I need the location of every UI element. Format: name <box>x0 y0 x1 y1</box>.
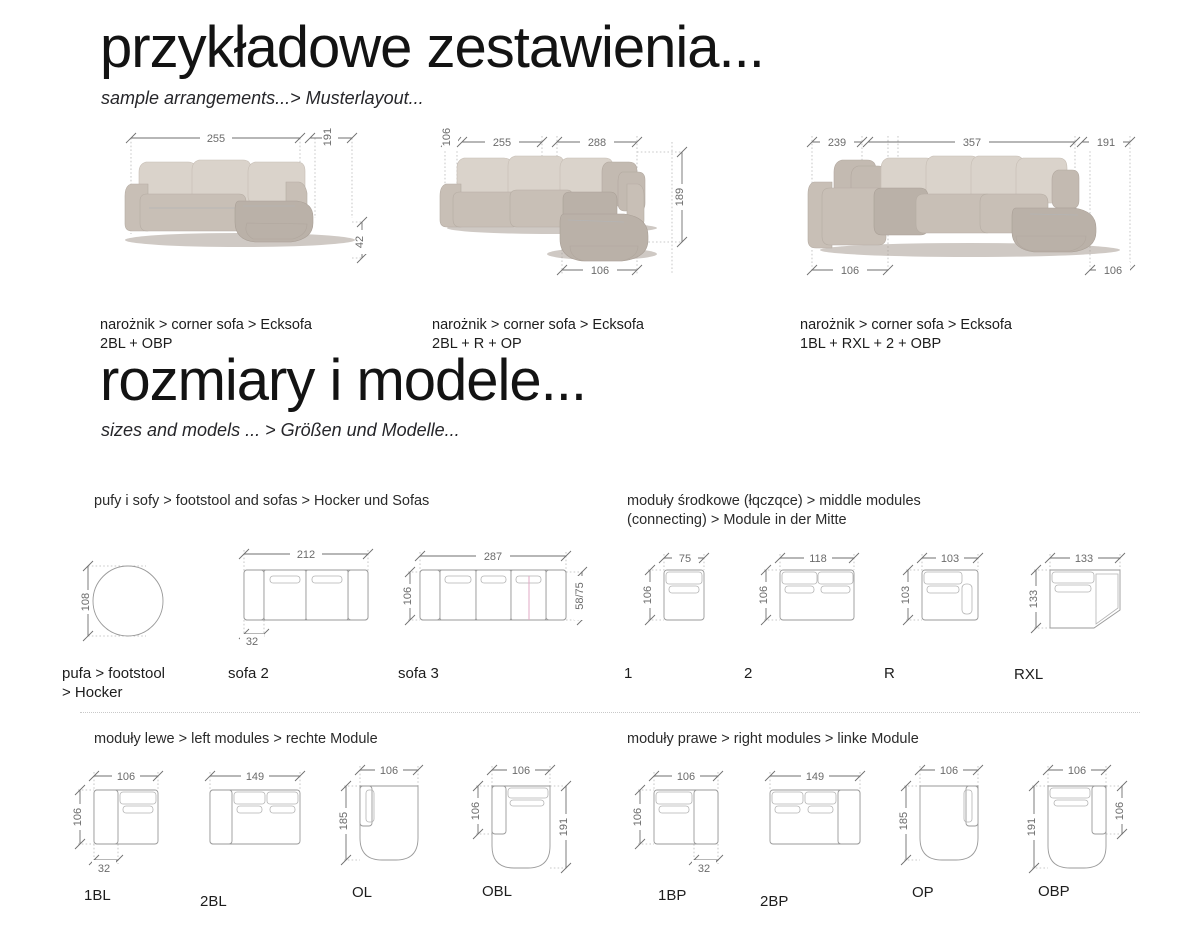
dim-obp-width: 106 <box>1068 765 1086 777</box>
dim-arr3-bottom-left: 106 <box>841 265 859 277</box>
dim-module2-width: 118 <box>809 553 827 565</box>
model-name-1bl: 1BL <box>84 886 192 905</box>
dim-obl-width: 106 <box>512 765 530 777</box>
sofa-illustration-1bl-rxl-2-obp <box>808 156 1120 257</box>
dim-arr2-right: 288 <box>588 137 606 149</box>
dim-modulerxl-depth: 133 <box>1028 590 1040 608</box>
dim-sofa2-arm: 32 <box>246 636 258 648</box>
group-label-left-modules-line1: moduły lewe > left modules > rechte Modu… <box>94 730 378 749</box>
dim-module2-depth: 106 <box>758 586 770 604</box>
dim-obp-arm-height: 106 <box>1114 802 1126 820</box>
dim-arr3-width: 357 <box>963 137 981 149</box>
model-item-obl: 106 106 191 OBL <box>458 750 588 901</box>
dim-sofa3-width: 287 <box>484 551 502 563</box>
dim-arr1-depth: 191 <box>322 128 334 146</box>
model-drawing-sofa2: 212 32 <box>228 540 388 648</box>
dim-1bp-depth: 106 <box>632 808 644 826</box>
model-drawing-ol: 106 185 <box>322 750 452 875</box>
page-title-arrangements: przykładowe zestawienia... <box>100 14 764 81</box>
group-label-left-modules: moduły lewe > left modules > rechte Modu… <box>94 730 378 749</box>
group-label-footstool-sofas: pufy i sofy > footstool and sofas > Hock… <box>94 492 429 511</box>
section-divider <box>80 712 1140 713</box>
dim-modulerxl-width: 133 <box>1075 553 1093 565</box>
group-label-right-modules-line1: moduły prawe > right modules > linke Mod… <box>627 730 919 749</box>
model-item-1: 75 106 1 <box>624 540 734 683</box>
dim-arr2-height: 189 <box>674 188 686 206</box>
model-item-sofa3: 287 106 58/75 sofa 3 <box>398 540 598 683</box>
model-drawing-1bp: 106 106 32 <box>622 760 752 878</box>
dim-1bl-depth: 106 <box>72 808 84 826</box>
arrangement-caption-2-line1: narożnik > corner sofa > Ecksofa <box>432 316 732 335</box>
dim-moduler-width: 103 <box>941 553 959 565</box>
dim-obl-arm-height: 106 <box>470 802 482 820</box>
dim-arr3-left: 239 <box>828 137 846 149</box>
model-drawing-pufa: 108 <box>62 548 197 648</box>
model-drawing-2bl: 149 <box>190 760 320 870</box>
dim-op-height: 185 <box>898 812 910 830</box>
dim-pufa-height: 108 <box>80 593 92 611</box>
model-drawing-module-rxl: 133 133 <box>1014 540 1144 645</box>
dim-module1-depth: 106 <box>642 586 654 604</box>
model-item-op: 106 185 OP <box>882 750 1012 902</box>
dim-arr3-bottom-right: 106 <box>1104 265 1122 277</box>
model-name-sofa2: sofa 2 <box>228 664 388 683</box>
model-item-1bl: 106 106 32 1BL <box>62 760 192 905</box>
dim-module1-width: 75 <box>679 553 691 565</box>
arrangement-drawing-3: 239 357 191 106 106 <box>800 122 1145 282</box>
dim-sofa3-depth: 106 <box>402 587 414 605</box>
arrangement-caption-3-line1: narożnik > corner sofa > Ecksofa <box>800 316 1145 335</box>
model-item-ol: 106 185 OL <box>322 750 452 902</box>
model-name-pufa-line2: > Hocker <box>62 683 197 702</box>
group-label-footstool-sofas-line1: pufy i sofy > footstool and sofas > Hock… <box>94 492 429 511</box>
model-item-r: 103 103 R <box>884 540 1004 683</box>
dim-moduler-depth: 103 <box>900 586 912 604</box>
dim-obp-total-height: 191 <box>1026 818 1038 836</box>
model-drawing-op: 106 185 <box>882 750 1012 875</box>
model-name-2bp: 2BP <box>760 892 880 911</box>
dim-arr2-width: 255 <box>493 137 511 149</box>
model-name-module-1: 1 <box>624 664 734 683</box>
dim-sofa2-width: 212 <box>297 549 315 561</box>
dim-1bl-width: 106 <box>117 771 135 783</box>
model-drawing-2bp: 149 <box>750 760 880 870</box>
model-name-obl: OBL <box>482 882 588 901</box>
model-name-module-rxl: RXL <box>1014 665 1144 684</box>
dim-arr3-right: 191 <box>1097 137 1115 149</box>
dim-2bl-width: 149 <box>246 771 264 783</box>
model-name-pufa-line1: pufa > footstool <box>62 664 197 683</box>
dim-arr1-width: 255 <box>207 133 225 145</box>
model-item-1bp: 106 106 32 1BP <box>622 760 752 905</box>
model-name-obp: OBP <box>1038 882 1144 901</box>
dim-ol-width: 106 <box>380 765 398 777</box>
arrangement-drawing-2: 106 255 288 189 106 <box>432 122 732 282</box>
model-drawing-obp: 106 106 191 <box>1014 750 1144 878</box>
arrangement-drawing-1: 255 191 42 <box>100 122 400 282</box>
arrangement-card-2: 106 255 288 189 106 <box>432 122 732 354</box>
arrangement-card-3: 239 357 191 106 106 <box>800 122 1145 354</box>
model-item-2bp: 149 2BP <box>750 760 880 911</box>
sofa-illustration-2bl-r-op <box>440 156 657 261</box>
model-name-module-r: R <box>884 664 1004 683</box>
model-drawing-module-r: 103 103 <box>884 540 1004 640</box>
dim-arr2-bottom: 106 <box>591 265 609 277</box>
group-label-right-modules: moduły prawe > right modules > linke Mod… <box>627 730 919 749</box>
dim-2bp-width: 149 <box>806 771 824 783</box>
model-item-pufa: 108 pufa > footstool > Hocker <box>62 548 197 702</box>
arrangement-caption-3-line2: 1BL + RXL + 2 + OBP <box>800 335 1145 354</box>
catalog-page: przykładowe zestawienia... sample arrang… <box>0 0 1200 950</box>
arrangement-caption-1-line1: narożnik > corner sofa > Ecksofa <box>100 316 400 335</box>
group-label-middle-modules: moduły środkowe (łqczqce) > middle modul… <box>627 492 921 530</box>
page-title-sizes: rozmiary i modele... <box>100 347 586 414</box>
dim-sofa3-seat: 58/75 <box>574 582 586 610</box>
dim-arr2-left: 106 <box>441 128 453 146</box>
dim-arr1-height: 42 <box>354 236 366 248</box>
dim-1bp-arm: 32 <box>698 863 710 875</box>
model-drawing-1bl: 106 106 32 <box>62 760 192 878</box>
dim-op-width: 106 <box>940 765 958 777</box>
model-item-rxl: 133 133 RXL <box>1014 540 1144 684</box>
model-item-obp: 106 106 191 OBP <box>1014 750 1144 901</box>
dim-ol-height: 185 <box>338 812 350 830</box>
model-item-sofa2: 212 32 sofa 2 <box>228 540 388 683</box>
dim-1bp-width: 106 <box>677 771 695 783</box>
group-label-middle-modules-line2: (connecting) > Module in der Mitte <box>627 511 921 530</box>
model-name-2bl: 2BL <box>200 892 320 911</box>
model-name-1bp: 1BP <box>658 886 752 905</box>
arrangement-card-1: 255 191 42 <box>100 122 400 354</box>
model-drawing-module-1: 75 106 <box>624 540 734 640</box>
group-label-middle-modules-line1: moduły środkowe (łqczqce) > middle modul… <box>627 492 921 511</box>
sofa-illustration-2bl-obp <box>125 160 355 247</box>
page-subtitle-arrangements: sample arrangements...> Musterlayout... <box>101 88 424 109</box>
model-drawing-sofa3: 287 106 58/75 <box>398 540 598 648</box>
model-name-module-2: 2 <box>744 664 874 683</box>
model-drawing-module-2: 118 106 <box>744 540 874 640</box>
page-subtitle-sizes: sizes and models ... > Größen und Modell… <box>101 420 460 441</box>
model-name-op: OP <box>912 883 1012 902</box>
model-name-sofa3: sofa 3 <box>398 664 598 683</box>
dim-obl-total-height: 191 <box>558 818 570 836</box>
dim-1bl-arm: 32 <box>98 863 110 875</box>
model-item-2: 118 106 2 <box>744 540 874 683</box>
model-name-ol: OL <box>352 883 452 902</box>
model-item-2bl: 149 2BL <box>190 760 320 911</box>
model-drawing-obl: 106 106 191 <box>458 750 588 878</box>
